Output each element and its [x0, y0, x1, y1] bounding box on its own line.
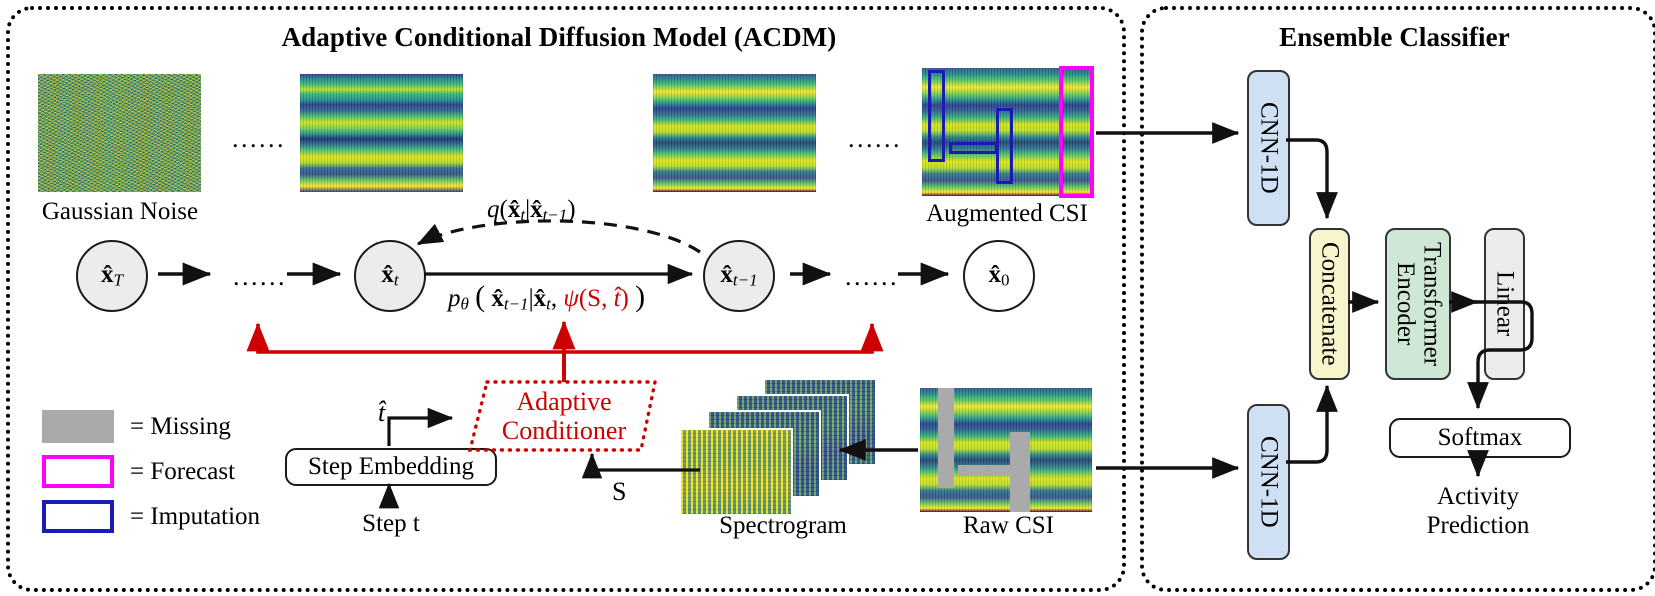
ellipsis-chain-1: ...... [233, 262, 287, 292]
node-x-t-minus-1: x̂t−1 [703, 240, 775, 312]
legend-imputation-swatch [42, 500, 114, 533]
raw-csi-label: Raw CSI [916, 512, 1101, 540]
legend-forecast: = Forecast [42, 455, 235, 488]
ellipsis-chain-2: ...... [845, 262, 899, 292]
t-hat-label: t̂ [378, 398, 385, 428]
missing-bar-2 [1010, 432, 1030, 512]
legend-missing: = Missing [42, 410, 231, 443]
gaussian-noise-image [38, 74, 201, 192]
softmax-block[interactable]: Softmax [1389, 418, 1571, 458]
cnn-1d-bottom-block[interactable]: CNN-1D [1247, 404, 1290, 560]
transformer-encoder-line1: Transformer [1418, 242, 1445, 366]
transformer-encoder-block[interactable]: Transformer Encoder [1385, 228, 1451, 380]
gaussian-noise-label: Gaussian Noise [10, 198, 230, 226]
cnn-1d-top-block[interactable]: CNN-1D [1247, 70, 1290, 226]
adaptive-conditioner-block: Adaptive Conditioner [468, 382, 660, 450]
legend-imputation: = Imputation [42, 500, 260, 533]
spectrogram-tile-1 [679, 428, 793, 516]
adaptive-conditioner-line2: Conditioner [502, 416, 626, 445]
imputation-box-2 [996, 108, 1013, 184]
missing-bar-1 [938, 388, 954, 488]
step-embedding-box[interactable]: Step Embedding [285, 448, 497, 486]
legend-forecast-swatch [42, 455, 114, 488]
panel-acdm-title: Adaptive Conditional Diffusion Model (AC… [0, 22, 1118, 53]
forecast-box [1059, 66, 1094, 198]
activity-prediction-label: Activity Prediction [1388, 482, 1568, 540]
legend-forecast-label: = Forecast [130, 458, 235, 486]
missing-bar-3 [958, 465, 1010, 476]
legend-missing-swatch [42, 410, 114, 443]
late-csi-image [653, 74, 816, 192]
adaptive-conditioner-line1: Adaptive [516, 387, 611, 416]
forward-process-formula: q(x̂t|x̂t−1) [487, 196, 576, 226]
node-x-t: x̂t [354, 240, 426, 312]
step-t-label: Step t [331, 510, 451, 538]
legend-missing-label: = Missing [130, 413, 231, 441]
imputation-box-1 [928, 70, 945, 162]
concatenate-label: Concatenate [1316, 242, 1342, 366]
legend-imputation-label: = Imputation [130, 503, 260, 531]
node-x-T: x̂T [76, 240, 148, 312]
spectrogram-label: Spectrogram [673, 512, 893, 540]
node-x-0: x̂0 [963, 240, 1035, 312]
spectrogram-signal-label: S [612, 477, 626, 507]
concatenate-block[interactable]: Concatenate [1309, 228, 1350, 380]
panel-ensemble-title: Ensemble Classifier [1140, 22, 1649, 53]
intermediate-csi-image [300, 74, 463, 192]
transformer-encoder-line2: Encoder [1392, 262, 1419, 345]
ellipsis-images-2: ...... [848, 124, 902, 154]
reverse-process-formula: pθ ( x̂t−1|x̂t, ψ(S, t̂) ) [448, 280, 645, 315]
ellipsis-images-1: ...... [232, 124, 286, 154]
linear-label: Linear [1491, 271, 1517, 336]
imputation-box-3 [949, 142, 998, 154]
cnn-1d-top-label: CNN-1D [1255, 102, 1281, 194]
cnn-1d-bottom-label: CNN-1D [1255, 436, 1281, 528]
diagram-root: Adaptive Conditional Diffusion Model (AC… [0, 0, 1655, 596]
linear-block[interactable]: Linear [1484, 228, 1525, 380]
augmented-csi-label: Augmented CSI [912, 200, 1102, 228]
